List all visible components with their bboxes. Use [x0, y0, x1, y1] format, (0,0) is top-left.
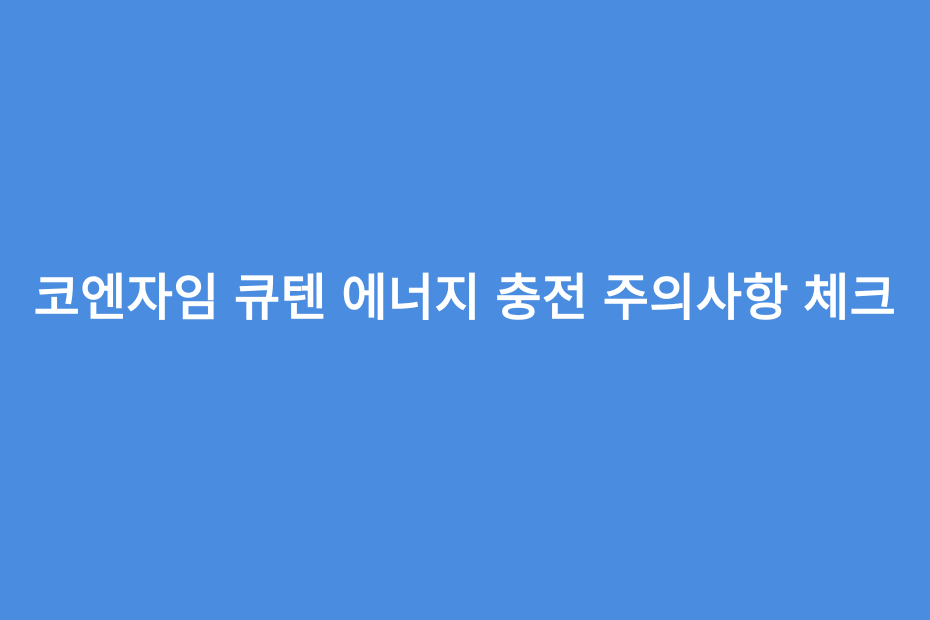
title-block: 코엔자임 큐텐 에너지 충전 주의사항 체크 [0, 269, 930, 327]
thumbnail-card: 코엔자임 큐텐 에너지 충전 주의사항 체크 [0, 0, 930, 620]
page-title: 코엔자임 큐텐 에너지 충전 주의사항 체크 [24, 269, 906, 327]
